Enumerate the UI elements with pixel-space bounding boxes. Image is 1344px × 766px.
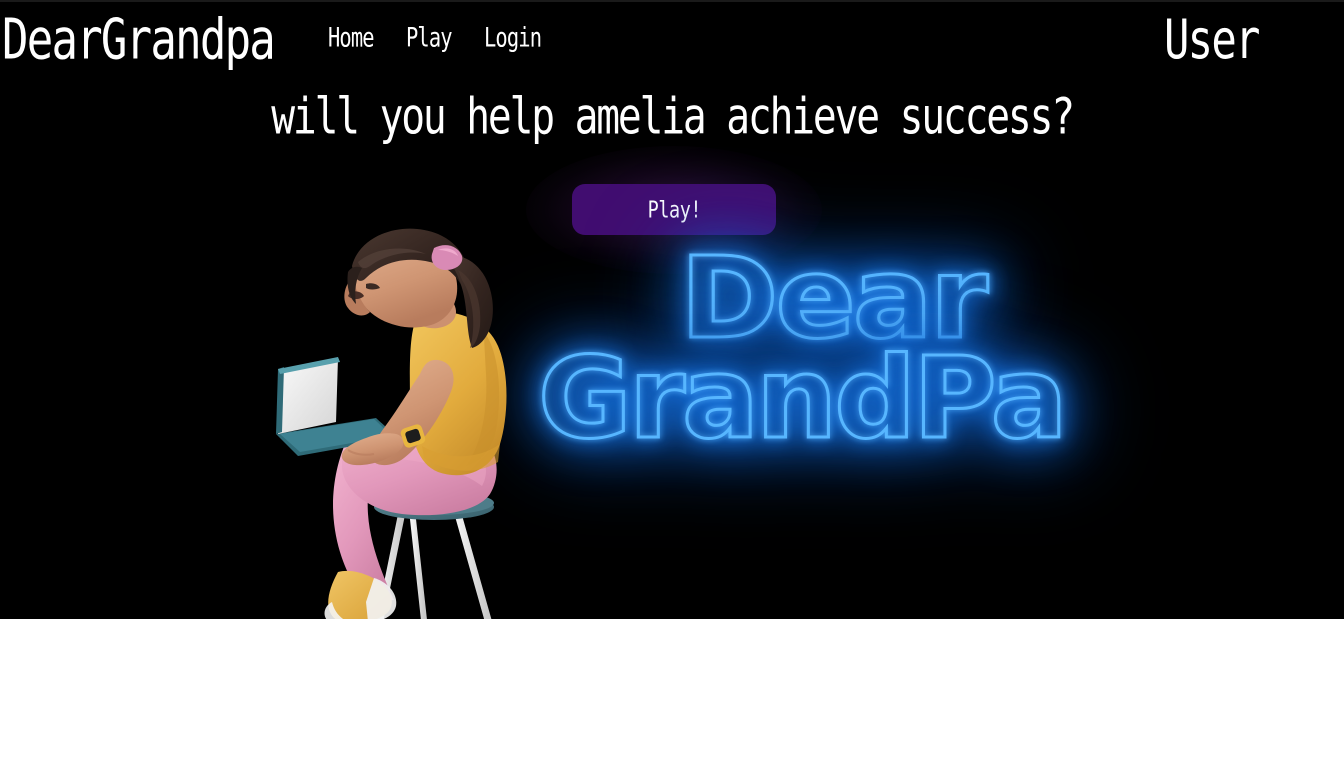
neon-logo-line-2: GrandPa	[538, 340, 1065, 458]
navbar: DearGrandpa Home Play Login User	[0, 0, 1344, 76]
neon-logo: Dear GrandPa	[520, 240, 1220, 480]
nav-link-play[interactable]: Play	[406, 22, 452, 53]
hero-section: DearGrandpa Home Play Login User will yo…	[0, 0, 1344, 619]
nav-links: Home Play Login	[328, 22, 551, 50]
play-button[interactable]: Play!	[572, 184, 776, 235]
nav-link-login[interactable]: Login	[484, 22, 541, 53]
play-button-label: Play!	[647, 197, 700, 223]
brand-logo-text[interactable]: DearGrandpa	[2, 8, 274, 71]
neon-logo-line-1: Dear	[680, 240, 985, 358]
user-area: User	[1164, 9, 1272, 63]
woman-working-on-laptop-illustration	[262, 222, 522, 619]
hero-tagline: will you help amelia achieve success?	[0, 86, 1344, 146]
nav-link-home[interactable]: Home	[328, 22, 374, 53]
user-menu-label[interactable]: User	[1164, 9, 1259, 71]
play-button-wrap: Play!	[572, 184, 776, 235]
page-root: DearGrandpa Home Play Login User will yo…	[0, 0, 1344, 766]
hero-tagline-text: will you help amelia achieve success?	[271, 84, 1073, 149]
